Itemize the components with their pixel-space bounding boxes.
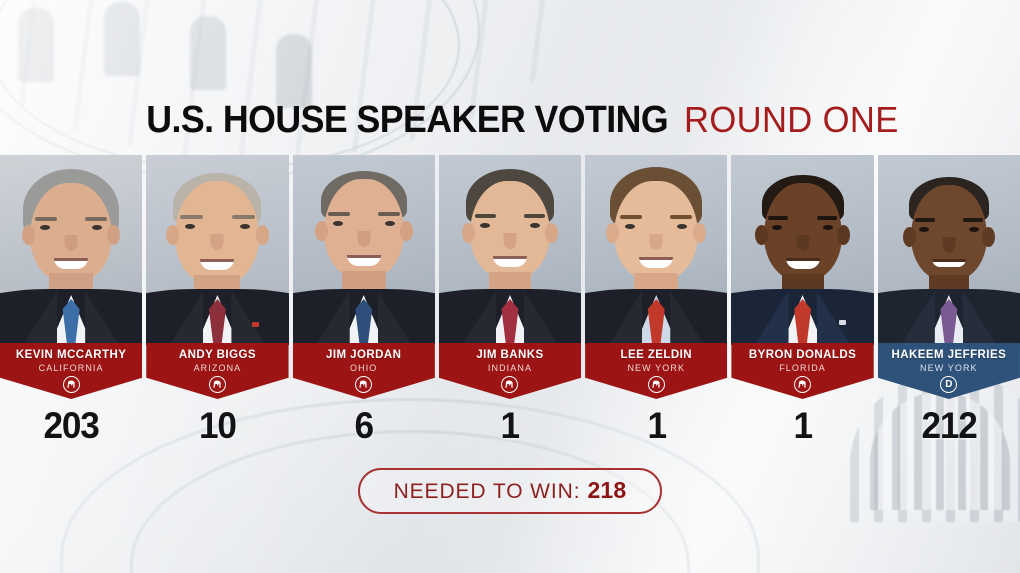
candidate-state: INDIANA (488, 363, 532, 373)
vote-count: 10 (199, 405, 236, 447)
candidate-photo (731, 155, 873, 345)
needed-to-win-badge: NEEDED TO WIN: 218 (358, 468, 663, 514)
candidate-state: NEW YORK (920, 363, 978, 373)
candidate-state: NEW YORK (627, 363, 685, 373)
candidate-name: HAKEEM JEFFRIES (891, 349, 1006, 361)
candidate-card-andy-biggs[interactable]: ANDY BIGGS ARIZONA (146, 155, 288, 345)
gop-elephant-icon (355, 376, 372, 393)
vote-count: 1 (793, 405, 811, 447)
page-title: U.S. HOUSE SPEAKER VOTING ROUND ONE (0, 96, 1020, 144)
candidate-photo (0, 155, 142, 345)
vote-cell: 203 (0, 402, 142, 450)
candidate-photo (439, 155, 581, 345)
needed-to-win-container: NEEDED TO WIN: 218 (0, 468, 1020, 514)
gop-elephant-icon (501, 376, 518, 393)
vote-count: 212 (921, 405, 976, 447)
gop-elephant-icon (209, 376, 226, 393)
candidate-state: FLORIDA (779, 363, 826, 373)
gop-elephant-icon (648, 376, 665, 393)
needed-to-win-label: NEEDED TO WIN: (394, 480, 581, 504)
vote-count: 203 (44, 405, 99, 447)
candidate-state: CALIFORNIA (39, 363, 104, 373)
candidate-name: JIM BANKS (476, 349, 543, 361)
vote-cell: 6 (293, 402, 435, 450)
candidate-photo (585, 155, 727, 345)
candidate-state: ARIZONA (194, 363, 242, 373)
candidate-card-kevin-mccarthy[interactable]: KEVIN MCCARTHY CALIFORNIA (0, 155, 142, 345)
candidate-name: BYRON DONALDS (749, 349, 856, 361)
vote-count: 6 (354, 405, 372, 447)
vote-count: 1 (501, 405, 519, 447)
democratic-d-icon: D (940, 376, 957, 393)
candidate-card-hakeem-jeffries[interactable]: HAKEEM JEFFRIES NEW YORK D (878, 155, 1020, 345)
candidate-name: KEVIN MCCARTHY (16, 349, 126, 361)
candidate-photo (146, 155, 288, 345)
vote-count: 1 (647, 405, 665, 447)
candidate-card-jim-jordan[interactable]: JIM JORDAN OHIO (293, 155, 435, 345)
vote-cell: 212 (878, 402, 1020, 450)
candidate-state: OHIO (350, 363, 377, 373)
gop-elephant-icon (66, 380, 77, 389)
gop-elephant-icon (63, 376, 80, 393)
candidate-name: JIM JORDAN (326, 349, 401, 361)
vote-cell: 1 (585, 402, 727, 450)
candidate-card-lee-zeldin[interactable]: LEE ZELDIN NEW YORK (585, 155, 727, 345)
candidate-photo (293, 155, 435, 345)
title-main-text: U.S. HOUSE SPEAKER VOTING (146, 99, 668, 142)
candidate-card-byron-donalds[interactable]: BYRON DONALDS FLORIDA (731, 155, 873, 345)
candidate-photo (878, 155, 1020, 345)
title-accent-text: ROUND ONE (684, 99, 899, 141)
vote-cell: 1 (731, 402, 873, 450)
vote-counts-row: 203 10 6 1 1 1 212 (0, 402, 1020, 450)
gop-elephant-icon (794, 376, 811, 393)
vote-cell: 1 (439, 402, 581, 450)
democratic-d-letter: D (945, 380, 952, 390)
needed-to-win-value: 218 (587, 477, 626, 504)
candidate-card-jim-banks[interactable]: JIM BANKS INDIANA (439, 155, 581, 345)
candidate-name: ANDY BIGGS (179, 349, 256, 361)
candidate-strip: KEVIN MCCARTHY CALIFORNIA (0, 155, 1020, 345)
candidate-name: LEE ZELDIN (620, 349, 692, 361)
vote-cell: 10 (146, 402, 288, 450)
